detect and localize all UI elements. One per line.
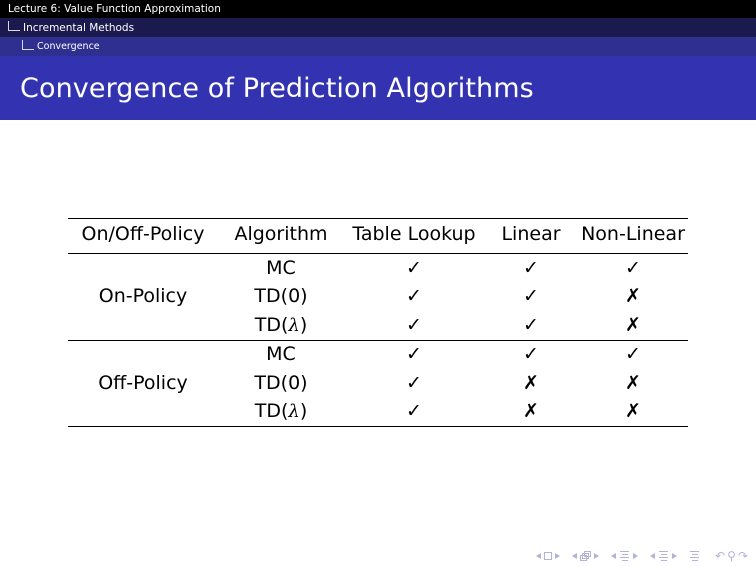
linear-mark: ✓ (484, 283, 578, 312)
algorithm-cell: TD(0) (218, 369, 344, 398)
prev-frame-arrow-icon[interactable] (536, 553, 541, 559)
table-lookup-mark: ✓ (344, 254, 484, 283)
table-row: Off-Policy MC ✓ ✓ ✓ (68, 340, 688, 369)
table-head: On/Off-Policy Algorithm Table Lookup Lin… (68, 219, 688, 254)
beamer-headline: Lecture 6: Value Function Approximation … (0, 0, 756, 56)
table-body-off-policy: Off-Policy MC ✓ ✓ ✓ TD(0) ✓ ✗ ✗ TD(λ) ✓ … (68, 340, 688, 427)
find-icon[interactable]: ⚲ (727, 550, 736, 562)
table-lookup-mark: ✓ (344, 340, 484, 369)
algorithm-cell: MC (218, 254, 344, 283)
subsection-navigation-group (572, 551, 599, 561)
tree-branch-icon (8, 21, 20, 31)
algorithm-cell: TD(λ) (218, 311, 344, 340)
column-header-policy: On/Off-Policy (68, 219, 218, 254)
algorithm-cell: TD(λ) (218, 398, 344, 427)
beamer-footer-navigation: ↶ ⚲ ↷ (536, 550, 748, 562)
nav-level-section[interactable]: Incremental Methods (0, 18, 756, 37)
non-linear-mark: ✗ (578, 398, 688, 427)
nav-level-subsection-label: Convergence (37, 41, 100, 52)
document-icon-group (689, 551, 700, 561)
table-header-row: On/Off-Policy Algorithm Table Lookup Lin… (68, 219, 688, 254)
convergence-table-wrapper: On/Off-Policy Algorithm Table Lookup Lin… (68, 218, 688, 427)
non-linear-mark: ✗ (578, 369, 688, 398)
next-doc-arrow-icon[interactable] (672, 553, 677, 559)
linear-mark: ✗ (484, 369, 578, 398)
table-lookup-mark: ✓ (344, 283, 484, 312)
algorithm-cell: MC (218, 340, 344, 369)
policy-cell-on-policy: On-Policy (68, 254, 218, 341)
column-header-table-lookup: Table Lookup (344, 219, 484, 254)
nav-level-lecture-label: Lecture 6: Value Function Approximation (8, 3, 221, 15)
algorithm-prefix: TD( (255, 400, 289, 422)
table-body-on-policy: On-Policy MC ✓ ✓ ✓ TD(0) ✓ ✓ ✗ TD(λ) ✓ ✓… (68, 254, 688, 341)
table-lookup-mark: ✓ (344, 398, 484, 427)
next-section-arrow-icon[interactable] (633, 553, 638, 559)
algorithm-prefix: TD( (255, 314, 289, 336)
nav-level-subsection[interactable]: Convergence (0, 37, 756, 56)
nav-level-lecture[interactable]: Lecture 6: Value Function Approximation (0, 0, 756, 18)
column-header-linear: Linear (484, 219, 578, 254)
document-lines-icon[interactable] (689, 551, 700, 561)
frame-icon[interactable] (544, 552, 552, 560)
non-linear-mark: ✓ (578, 340, 688, 369)
non-linear-mark: ✓ (578, 254, 688, 283)
linear-mark: ✓ (484, 311, 578, 340)
non-linear-mark: ✗ (578, 283, 688, 312)
slide-body: On/Off-Policy Algorithm Table Lookup Lin… (0, 120, 756, 535)
linear-mark: ✗ (484, 398, 578, 427)
tree-branch-icon (22, 40, 34, 50)
prev-subsection-arrow-icon[interactable] (572, 553, 577, 559)
frame-navigation-group (536, 552, 560, 560)
back-icon[interactable]: ↶ (715, 550, 725, 562)
table-row: On-Policy MC ✓ ✓ ✓ (68, 254, 688, 283)
non-linear-mark: ✗ (578, 311, 688, 340)
convergence-table: On/Off-Policy Algorithm Table Lookup Lin… (68, 218, 688, 427)
table-lookup-mark: ✓ (344, 369, 484, 398)
subsection-lines-icon[interactable] (619, 551, 630, 561)
linear-mark: ✓ (484, 254, 578, 283)
algorithm-suffix: ) (300, 400, 307, 422)
linear-mark: ✓ (484, 340, 578, 369)
prev-section-arrow-icon[interactable] (611, 553, 616, 559)
section-navigation-group (611, 551, 638, 561)
algorithm-suffix: ) (300, 314, 307, 336)
next-subsection-arrow-icon[interactable] (594, 553, 599, 559)
policy-cell-off-policy: Off-Policy (68, 340, 218, 427)
slides-stack-icon[interactable] (580, 551, 591, 561)
forward-icon[interactable]: ↷ (738, 550, 748, 562)
table-lookup-mark: ✓ (344, 311, 484, 340)
algorithm-cell: TD(0) (218, 283, 344, 312)
next-frame-arrow-icon[interactable] (555, 553, 560, 559)
lambda-symbol: λ (288, 315, 299, 336)
prev-doc-arrow-icon[interactable] (650, 553, 655, 559)
lambda-symbol: λ (288, 401, 299, 422)
nav-level-section-label: Incremental Methods (23, 22, 134, 34)
section-lines-icon[interactable] (658, 551, 669, 561)
column-header-non-linear: Non-Linear (578, 219, 688, 254)
page-title: Convergence of Prediction Algorithms (20, 73, 534, 104)
document-navigation-group (650, 551, 677, 561)
column-header-algorithm: Algorithm (218, 219, 344, 254)
frame-title-bar: Convergence of Prediction Algorithms (0, 56, 756, 120)
history-navigation-group: ↶ ⚲ ↷ (715, 550, 748, 562)
